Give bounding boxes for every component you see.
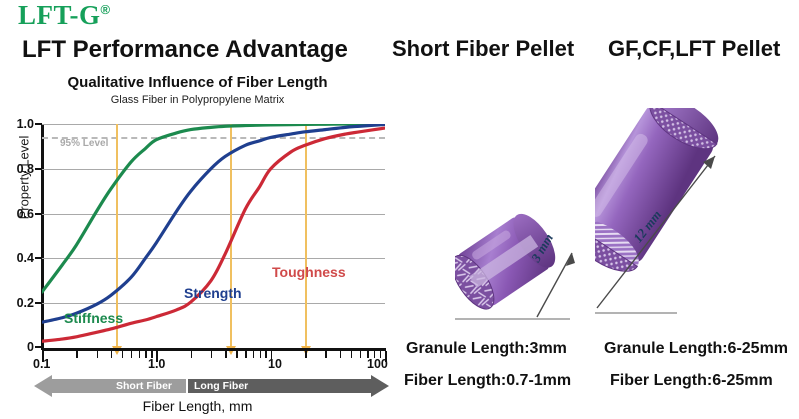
xtick-7	[253, 351, 255, 358]
xtick-label-10: 10	[268, 357, 282, 371]
chart-x-axis-line	[42, 348, 386, 351]
ytick-label-1.0: 1.0	[0, 117, 34, 131]
heading-performance-advantage: LFT Performance Advantage	[22, 36, 348, 64]
ytick-label-0.2: 0.2	[0, 296, 34, 310]
short-pellet-granule-length: Granule Length:3mm	[406, 340, 567, 358]
heading-lft-pellet: GF,CF,LFT Pellet	[608, 36, 780, 62]
xtick-9	[265, 351, 267, 358]
band-label-short: Short Fiber	[116, 380, 172, 392]
xtick-30	[325, 351, 327, 358]
heading-short-fiber-pellet: Short Fiber Pellet	[392, 36, 574, 62]
long-pellet-fiber-length: Fiber Length:6-25mm	[610, 372, 773, 390]
xtick-0.8	[145, 351, 147, 358]
xtick-60	[360, 351, 362, 358]
curve-label-toughness: Toughness	[272, 264, 346, 280]
ytickmark-0.4	[35, 257, 42, 259]
xtick-label-0.1: 0.1	[33, 357, 50, 371]
short-pellet-fiber-length: Fiber Length:0.7-1mm	[404, 372, 571, 390]
long-pellet-granule-length: Granule Length:6-25mm	[604, 340, 788, 358]
registered-trademark-icon: ®	[101, 2, 111, 17]
fiber-length-chart: Qualitative Influence of Fiber Length Gl…	[0, 74, 395, 419]
brand-logo-text: LFT-G	[18, 0, 101, 30]
band-label-long: Long Fiber	[194, 380, 248, 392]
ytickmark-0.8	[35, 168, 42, 170]
xtick-0.7000000000000001	[139, 351, 141, 358]
xtick-8	[260, 351, 262, 358]
ytick-label-0: 0	[0, 340, 34, 354]
xtick-5	[236, 351, 238, 358]
ytick-label-0.8: 0.8	[0, 162, 34, 176]
xtick-0.4	[111, 351, 113, 358]
brand-logo: LFT-G®	[18, 2, 111, 29]
xtick-4	[225, 351, 227, 358]
ytickmark-0.2	[35, 302, 42, 304]
ytickmark-0	[35, 346, 42, 348]
xtick-20	[305, 351, 307, 358]
band-arrow-right	[371, 375, 389, 397]
ytick-label-0.4: 0.4	[0, 251, 34, 265]
xtick-3	[211, 351, 213, 358]
xtick-50	[351, 351, 353, 358]
curve-label-strength: Strength	[184, 285, 242, 301]
fiber-range-band: Short Fiber Long Fiber	[34, 375, 389, 397]
chart-title: Qualitative Influence of Fiber Length	[0, 74, 395, 91]
xtick-0.6000000000000001	[131, 351, 133, 358]
xtick-0.5	[122, 351, 124, 358]
band-arrow-left	[34, 375, 52, 397]
ytickmark-1.0	[35, 123, 42, 125]
ytick-label-0.6: 0.6	[0, 207, 34, 221]
long-pellet-illustration	[595, 108, 799, 330]
xtick-0.30000000000000004	[97, 351, 99, 358]
ytickmark-0.6	[35, 213, 42, 215]
chart-subtitle: Glass Fiber in Polypropylene Matrix	[0, 94, 395, 106]
xtick-40	[340, 351, 342, 358]
xtick-label-100: 100	[367, 357, 388, 371]
chart-x-axis-label: Fiber Length, mm	[0, 398, 395, 414]
xtick-2	[191, 351, 193, 358]
xtick-label-1.0: 1.0	[148, 357, 165, 371]
chart-plot-area: 95% Level Stiffness Strength Toughness	[42, 124, 385, 348]
curve-label-stiffness: Stiffness	[64, 310, 123, 326]
xtick-6	[245, 351, 247, 358]
xtick-0.2	[76, 351, 78, 358]
